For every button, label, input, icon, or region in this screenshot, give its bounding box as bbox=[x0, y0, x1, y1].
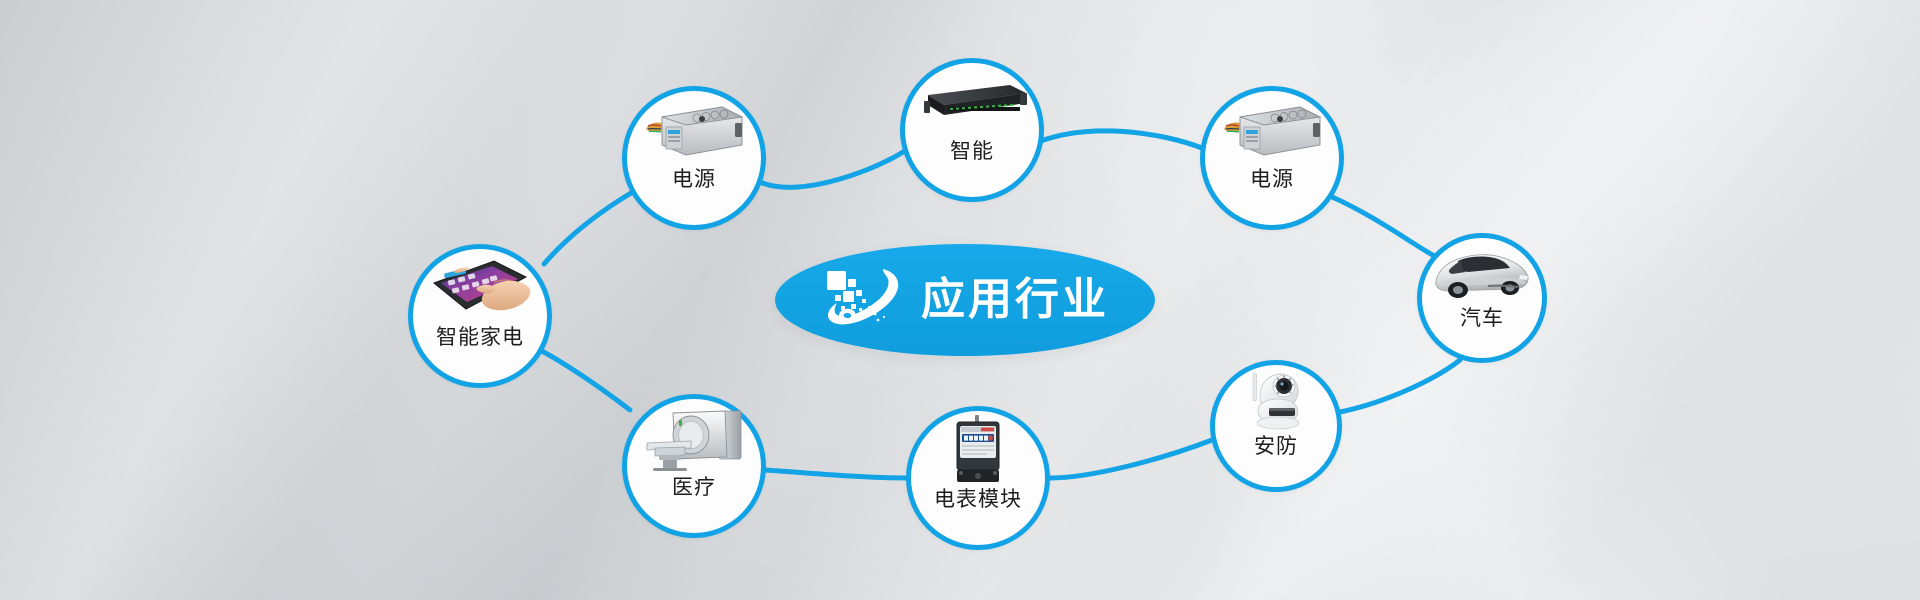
center-badge[interactable]: 应用行业 bbox=[775, 244, 1155, 356]
orbit-pixel-logo-icon bbox=[821, 263, 907, 337]
ip-camera-art bbox=[1215, 365, 1337, 436]
node-label: 医疗 bbox=[672, 477, 716, 498]
node-security[interactable]: 安防 bbox=[1210, 360, 1342, 492]
mri-scanner-art bbox=[627, 399, 761, 477]
node-power-left[interactable]: 电源 bbox=[622, 86, 766, 230]
node-meter[interactable]: 电表模块 bbox=[906, 406, 1050, 550]
sports-car-icon bbox=[1428, 241, 1536, 305]
badge-title: 应用行业 bbox=[921, 278, 1109, 322]
banner-canvas: 电源 bbox=[0, 0, 1920, 600]
power-supply-art bbox=[1205, 91, 1339, 169]
node-smart[interactable]: 智能 bbox=[900, 58, 1044, 202]
electricity-meter-icon bbox=[949, 413, 1007, 487]
node-label: 电表模块 bbox=[934, 489, 1022, 510]
power-supply-icon bbox=[1220, 99, 1324, 161]
mri-scanner-icon bbox=[639, 403, 749, 473]
node-smart-home[interactable]: 智能家电 bbox=[408, 244, 552, 388]
node-label: 智能家电 bbox=[436, 327, 524, 348]
rack-server-icon bbox=[914, 79, 1030, 125]
node-label: 汽车 bbox=[1460, 308, 1504, 329]
ip-camera-icon bbox=[1240, 363, 1312, 437]
electricity-meter-art bbox=[911, 411, 1045, 489]
rack-server-art bbox=[905, 63, 1039, 141]
tablet-touch-icon bbox=[428, 255, 532, 321]
node-power-right[interactable]: 电源 bbox=[1200, 86, 1344, 230]
node-label: 电源 bbox=[1250, 169, 1294, 190]
node-label: 电源 bbox=[672, 169, 716, 190]
tablet-touch-art bbox=[413, 249, 547, 327]
power-supply-icon bbox=[642, 99, 746, 161]
node-automotive[interactable]: 汽车 bbox=[1417, 233, 1547, 363]
sports-car-art bbox=[1422, 238, 1542, 308]
power-supply-art bbox=[627, 91, 761, 169]
node-label: 安防 bbox=[1254, 436, 1298, 457]
node-medical[interactable]: 医疗 bbox=[622, 394, 766, 538]
node-label: 智能 bbox=[950, 141, 994, 162]
